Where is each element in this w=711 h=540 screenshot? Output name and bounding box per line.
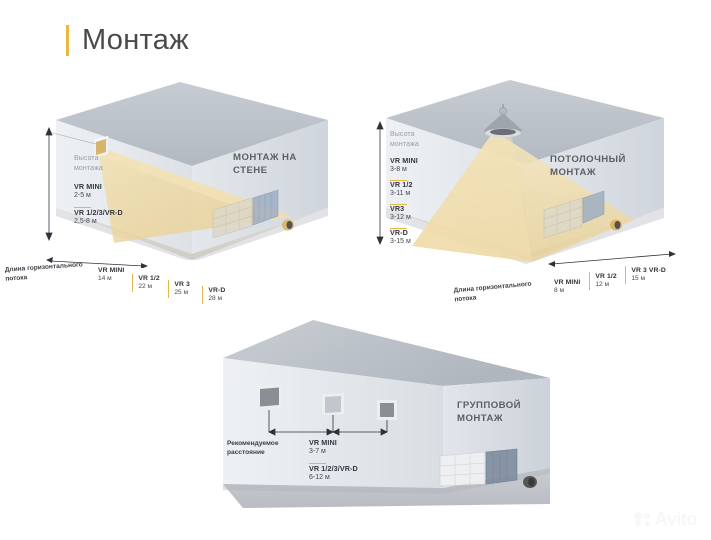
spec-name: VR MINI	[98, 266, 124, 275]
avito-dots-icon	[634, 512, 651, 527]
spec-value: 14 м	[98, 275, 124, 284]
wall-flow-spec-2: VR 3 25 м	[168, 280, 190, 298]
spec-name: VR 1/2/3/VR-D	[309, 464, 358, 473]
spec-value: 8 м	[554, 287, 580, 296]
avito-watermark: Avito	[634, 510, 697, 528]
spec-value: 2-5 м	[74, 191, 102, 200]
spec-value: 3-15 м	[390, 237, 411, 246]
divider	[132, 274, 133, 292]
spec-name: VR-D	[390, 228, 411, 237]
ceiling-height-spec-1: VR 1/2 3-11 м	[390, 180, 413, 198]
title-accent-bar	[66, 25, 69, 56]
wall-flow-spec-0: VR MINI 14 м	[98, 266, 124, 284]
spec-name: VR MINI	[554, 278, 580, 287]
wall-mount-room-title: МОНТАЖ НА СТЕНЕ	[233, 152, 297, 178]
height-dimension-arrow	[377, 122, 383, 244]
group-distance-spec-1: VR 1/2/3/VR-D 6-12 м	[309, 464, 358, 482]
ceiling-flow-caption: Длина горизонтального потока	[453, 281, 532, 306]
ceiling-flow-spec-2: VR 3 VR-D 15 м	[625, 266, 666, 284]
spec-name: VR MINI	[309, 438, 337, 447]
ceiling-flow-spec-1: VR 1/2 12 м	[589, 272, 617, 290]
spec-value: 3-8 м	[390, 165, 418, 174]
spec-value: 15 м	[631, 275, 666, 284]
spec-value: 2,5-8 м	[74, 217, 123, 226]
ceiling-height-spec-2: VR3 3-12 м	[390, 204, 411, 222]
wall-height-caption: Высота монтажа	[74, 154, 103, 174]
divider	[202, 286, 203, 304]
avito-brand-text: Avito	[655, 510, 697, 528]
spec-name: VR 1/2	[138, 274, 159, 283]
ceiling-height-spec-0: VR MINI 3-8 м	[390, 156, 418, 174]
spec-value: 6-12 м	[309, 473, 358, 482]
wall-height-spec-1: VR 1/2/3/VR-D 2,5-8 м	[74, 208, 123, 226]
group-distance-spec-0: VR MINI 3-7 м	[309, 438, 337, 456]
spec-name: VR MINI	[74, 182, 102, 191]
diagram-group-mount: Рекомендуемое расстояние VR MINI 3-7 м V…	[205, 308, 550, 513]
spec-name: VR 1/2	[595, 272, 616, 281]
spec-name: VR 3	[174, 280, 190, 289]
spec-value: 12 м	[595, 281, 616, 290]
page-title: Монтаж	[66, 24, 189, 57]
spec-name: VR 3 VR-D	[631, 266, 666, 275]
divider	[168, 280, 169, 298]
group-distance-caption: Рекомендуемое расстояние	[227, 440, 279, 458]
group-heater-unit-1	[257, 384, 282, 410]
spec-value: 22 м	[138, 283, 159, 292]
ceiling-flow-spec-0: VR MINI 8 м	[554, 278, 580, 296]
spec-value: 3-11 м	[390, 189, 413, 198]
spec-name: VR MINI	[390, 156, 418, 165]
spec-name: VR 1/2/3/VR-D	[74, 208, 123, 217]
diagram-wall-mount: Высота монтажа VR MINI 2-5 м VR 1/2/3/VR…	[40, 68, 340, 258]
ceiling-height-spec-3: VR-D 3-15 м	[390, 228, 411, 246]
group-heater-unit-3	[377, 400, 397, 420]
group-mount-room-title: ГРУППОВОЙ МОНТАЖ	[457, 400, 521, 426]
page-title-text: Монтаж	[82, 24, 189, 57]
wall-height-spec-0: VR MINI 2-5 м	[74, 182, 102, 200]
diagram-ceiling-mount: Высота монтажа VR MINI 3-8 м VR 1/2 3-11…	[372, 68, 677, 263]
wall-flow-spec-1: VR 1/2 22 м	[132, 274, 160, 292]
spec-value: 3-12 м	[390, 213, 411, 222]
ceiling-mount-room-title: ПОТОЛОЧНЫЙ МОНТАЖ	[550, 154, 626, 180]
divider	[589, 272, 590, 290]
spec-value: 25 м	[174, 289, 190, 298]
ceiling-height-caption: Высота монтажа	[390, 130, 419, 150]
spec-name: VR 1/2	[390, 180, 413, 189]
wall-flow-spec-3: VR-D 28 м	[202, 286, 225, 304]
spec-name: VR3	[390, 204, 411, 213]
spec-value: 28 м	[208, 295, 225, 304]
spec-name: VR-D	[208, 286, 225, 295]
installation-infographic: Монтаж	[0, 0, 711, 540]
divider	[625, 266, 626, 284]
spec-value: 3-7 м	[309, 447, 337, 456]
group-heater-unit-2	[322, 393, 344, 415]
